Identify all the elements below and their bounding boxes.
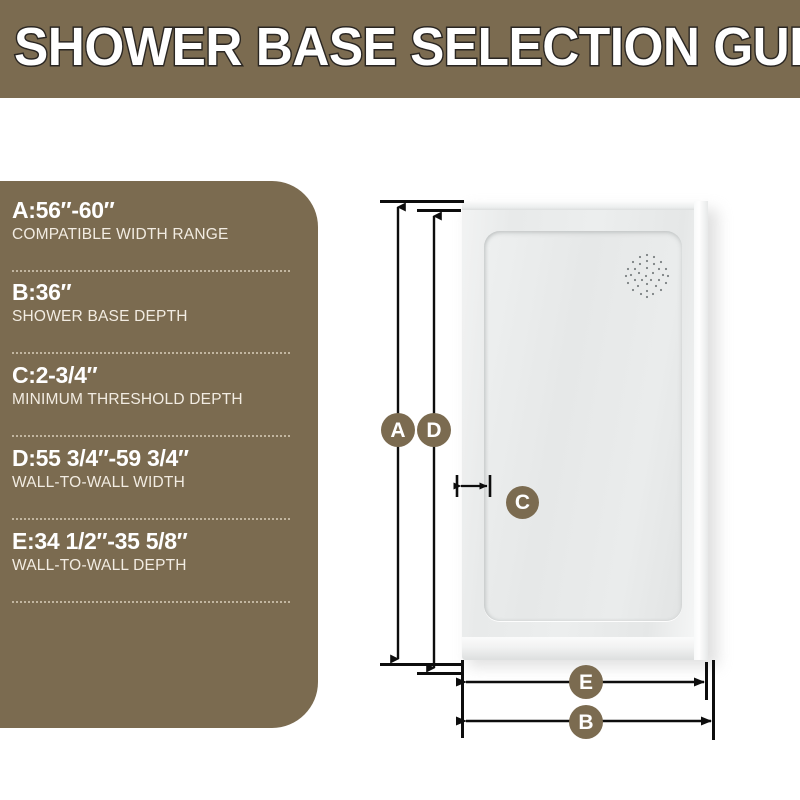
dim-badge-b: B — [569, 705, 603, 739]
dimension-overlay — [0, 0, 800, 800]
dim-badge-a: A — [381, 413, 415, 447]
dim-badge-e: E — [569, 665, 603, 699]
dim-badge-d: D — [417, 413, 451, 447]
dim-badge-c: C — [506, 486, 539, 519]
infographic-page: SHOWER BASE SELECTION GUIDE A:56″-60″ CO… — [0, 0, 800, 800]
